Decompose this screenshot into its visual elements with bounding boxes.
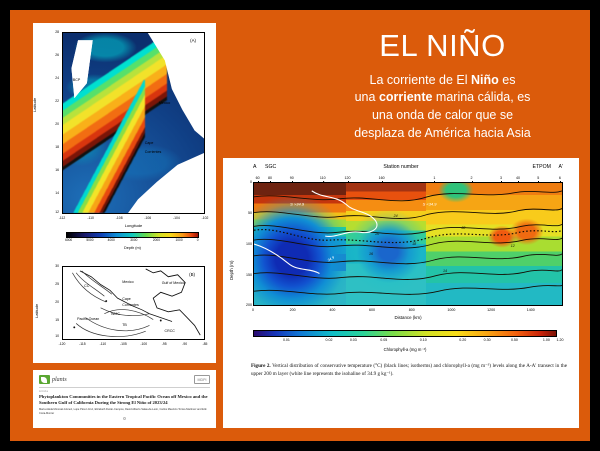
subtitle-emphasis-corriente: corriente (379, 90, 433, 104)
transect-end-site-etpom: ETPOM (533, 164, 551, 170)
slide-title: EL NIÑO (310, 30, 575, 63)
journal-footer-marks (39, 417, 210, 420)
map-label-crcc: CRCC (165, 329, 175, 333)
map-label-cape: Cape (145, 141, 154, 145)
subtitle-text: es (499, 73, 516, 87)
chlorophyll-colorbar-gradient (253, 330, 557, 337)
map-label-mexico-b: Mexico (122, 280, 133, 284)
isotherm-label-22: 22 (461, 226, 465, 230)
journal-mark-dot (123, 417, 126, 420)
journal-logo: plants (39, 375, 67, 384)
map-label-pacific-ocean: Pacific Ocean (77, 317, 99, 321)
panel-a-latitude-ticks: 28 26 24 22 20 18 16 14 12 (46, 32, 60, 214)
section-plot-area: A SGC Station number ETPOM A' 60 80 90 1… (231, 164, 571, 322)
leaf-icon (39, 375, 50, 384)
isotherm-label-20: 20 (375, 232, 379, 236)
isotherm-label-12: 12 (511, 244, 515, 248)
map-label-cape-b: Cape (122, 297, 131, 301)
transect-end-label-a-prime: A' (559, 164, 563, 170)
slide-subtitle: La corriente de El Niño es una corriente… (310, 72, 575, 143)
peninsula-shelf-band (66, 80, 145, 213)
chlorophyll-colorbar-ticks: 0.01 0.02 0.03 0.05 0.10 0.20 0.30 0.50 … (253, 338, 557, 346)
isotherm-label-24: 24 (394, 214, 398, 218)
figure-caption-text: Vertical distribution of conservative te… (251, 363, 567, 377)
map-label-cc: CC (84, 284, 89, 288)
subtitle-emphasis-nino: Niño (471, 73, 499, 87)
panel-b-current-schematic: (B) CC Mexico Gulf of Mexico Cape Corrie… (36, 262, 213, 358)
panel-a-plot-area: (A) BCP Mexico Cape Corrientes (62, 32, 205, 214)
subtitle-line-1: La corriente de El Niño es (370, 73, 516, 87)
figure-caption: Figure 2. Vertical distribution of conse… (251, 363, 567, 378)
transect-start-site-sgc: SGC (265, 164, 276, 170)
slide-canvas: (A) BCP Mexico Cape Corrientes 28 26 24 … (10, 10, 590, 441)
depth-colorbar-ticks: 6000 5000 4000 3000 2000 1000 0 (66, 238, 199, 245)
chlorophyll-colorbar: 0.01 0.02 0.03 0.05 0.10 0.20 0.30 0.50 … (253, 330, 557, 352)
salinity-label-high: S >34.9 (290, 201, 304, 206)
panel-b-longitude-ticks: -120 -115 -110 -105 -100 -95 -90 -85 (62, 342, 205, 350)
depth-axis-title: Depth (m) (229, 260, 234, 280)
map-label-gulf-of-mexico: Gulf of Mexico (162, 281, 185, 285)
panel-b-latitude-axis-title: Latitude (34, 304, 39, 318)
isotherm-label-14: 14 (443, 269, 447, 273)
article-kicker: Article (39, 390, 210, 393)
title-block: EL NIÑO La corriente de El Niño es una c… (310, 30, 575, 143)
article-title: Phytoplankton Communities in the Eastern… (39, 394, 210, 406)
transect-start-label-a: A (253, 164, 256, 170)
figure-caption-number: Figure 2. (251, 363, 271, 369)
station-number-axis-title: Station number (383, 164, 418, 170)
journal-divider (39, 387, 210, 388)
isotherm-label-18: 18 (412, 242, 416, 246)
map-label-corrientes-b: Corrientes (122, 303, 139, 307)
panel-b-latitude-ticks: 30 25 20 15 10 (46, 266, 60, 340)
map-label-bcp: BCP (73, 78, 80, 82)
panel-a-bathymetry-map: (A) BCP Mexico Cape Corrientes 28 26 24 … (36, 26, 213, 258)
journal-header: plants MDPI (39, 374, 210, 385)
subtitle-line-3: una onda de calor que se (372, 108, 513, 122)
section-heatmap: S >34.9 S <34.9 34.9 24 22 20 18 16 14 1… (253, 182, 563, 306)
subtitle-text: marina cálida, es (432, 90, 530, 104)
station-number-ticks: 60 80 90 110 120 160 1 2 3 40 5 6 (253, 173, 563, 181)
depth-colorbar-title: Depth (m) (66, 246, 199, 250)
journal-name: plants (52, 377, 67, 383)
distance-axis-title: Distance (km) (253, 315, 563, 320)
section-figure-card: A SGC Station number ETPOM A' 60 80 90 1… (223, 158, 579, 428)
panel-a-latitude-axis-title: Latitude (32, 98, 37, 112)
panel-b-plot-area: (B) CC Mexico Gulf of Mexico Cape Corrie… (62, 266, 205, 340)
subtitle-line-4: desplaza de América hacia Asia (354, 126, 531, 140)
panel-a-longitude-axis-title: Longitude (62, 223, 205, 228)
map-label-corrientes: Corrientes (145, 150, 162, 154)
depth-colorbar: 6000 5000 4000 3000 2000 1000 0 Depth (m… (66, 232, 199, 252)
isotherm-label-16: 16 (369, 252, 373, 256)
subtitle-text: La corriente de El (370, 73, 471, 87)
map-label-wmc: WMC (111, 312, 120, 316)
map-figure-card: (A) BCP Mexico Cape Corrientes 28 26 24 … (33, 23, 216, 363)
journal-article-card: plants MDPI Article Phytoplankton Commun… (33, 370, 216, 428)
mdpi-logo: MDPI (194, 375, 210, 384)
section-top-labels: A SGC Station number ETPOM A' (231, 164, 571, 173)
map-label-tb: TB (122, 323, 127, 327)
subtitle-text: una (355, 90, 379, 104)
map-label-mexico: Mexico (159, 101, 170, 105)
panel-a-label: (A) (190, 38, 196, 43)
article-authors: María Adela Monreal-Gómez, Lupe Pérez-Cr… (39, 408, 210, 415)
panel-b-label: (B) (189, 272, 195, 277)
depth-axis-ticks: 0 50 100 150 200 (237, 182, 253, 306)
chlorophyll-colorbar-title: Chlorophyll-a (mg m⁻³) (253, 347, 557, 352)
map-figure: (A) BCP Mexico Cape Corrientes 28 26 24 … (36, 26, 213, 360)
salinity-label-low: S <34.9 (423, 201, 437, 206)
subtitle-line-2: una corriente marina cálida, es (355, 90, 531, 104)
